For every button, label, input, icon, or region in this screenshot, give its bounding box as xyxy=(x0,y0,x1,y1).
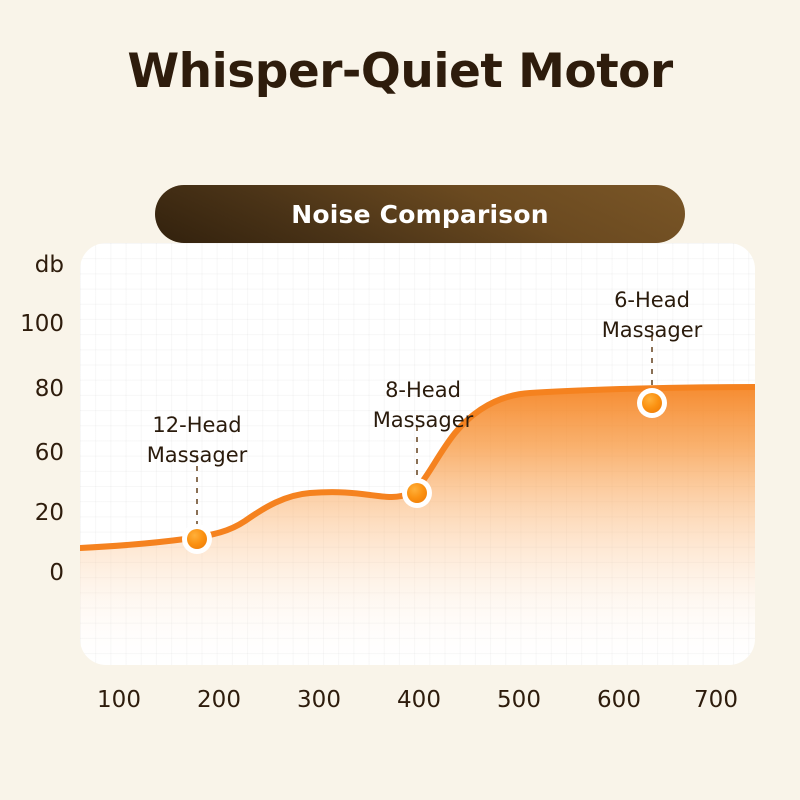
annotation-12-head-line2: Massager xyxy=(122,440,272,470)
annotation-8-head-line2: Massager xyxy=(348,405,498,435)
x-axis-tick-200: 200 xyxy=(184,687,254,713)
infographic-page: Whisper-Quiet Motor Noise Comparison xyxy=(0,0,800,800)
annotation-6-head-line2: Massager xyxy=(577,315,727,345)
y-axis-tick-100: 100 xyxy=(8,311,64,337)
section-header-pill: Noise Comparison xyxy=(155,185,685,243)
y-axis-tick-0: 0 xyxy=(8,560,64,586)
annotation-6-head-massager: 6-Head Massager xyxy=(577,285,727,345)
y-axis-tick-80: 80 xyxy=(8,376,64,402)
section-header-label: Noise Comparison xyxy=(291,200,549,229)
x-axis-tick-500: 500 xyxy=(484,687,554,713)
y-axis-unit-label: db xyxy=(8,252,64,278)
x-axis-tick-100: 100 xyxy=(84,687,154,713)
x-axis-tick-300: 300 xyxy=(284,687,354,713)
annotation-12-head-line1: 12-Head xyxy=(152,413,241,437)
data-point-8-head[interactable] xyxy=(402,478,432,508)
annotation-12-head-massager: 12-Head Massager xyxy=(122,410,272,470)
x-axis-tick-700: 700 xyxy=(681,687,751,713)
annotation-6-head-line1: 6-Head xyxy=(614,288,690,312)
data-point-6-head[interactable] xyxy=(637,388,667,418)
y-axis-tick-60: 60 xyxy=(8,440,64,466)
data-point-12-head[interactable] xyxy=(182,524,212,554)
page-title: Whisper-Quiet Motor xyxy=(0,44,800,99)
annotation-8-head-line1: 8-Head xyxy=(385,378,461,402)
y-axis-tick-20: 20 xyxy=(8,500,64,526)
x-axis-tick-400: 400 xyxy=(384,687,454,713)
annotation-8-head-massager: 8-Head Massager xyxy=(348,375,498,435)
x-axis-tick-600: 600 xyxy=(584,687,654,713)
